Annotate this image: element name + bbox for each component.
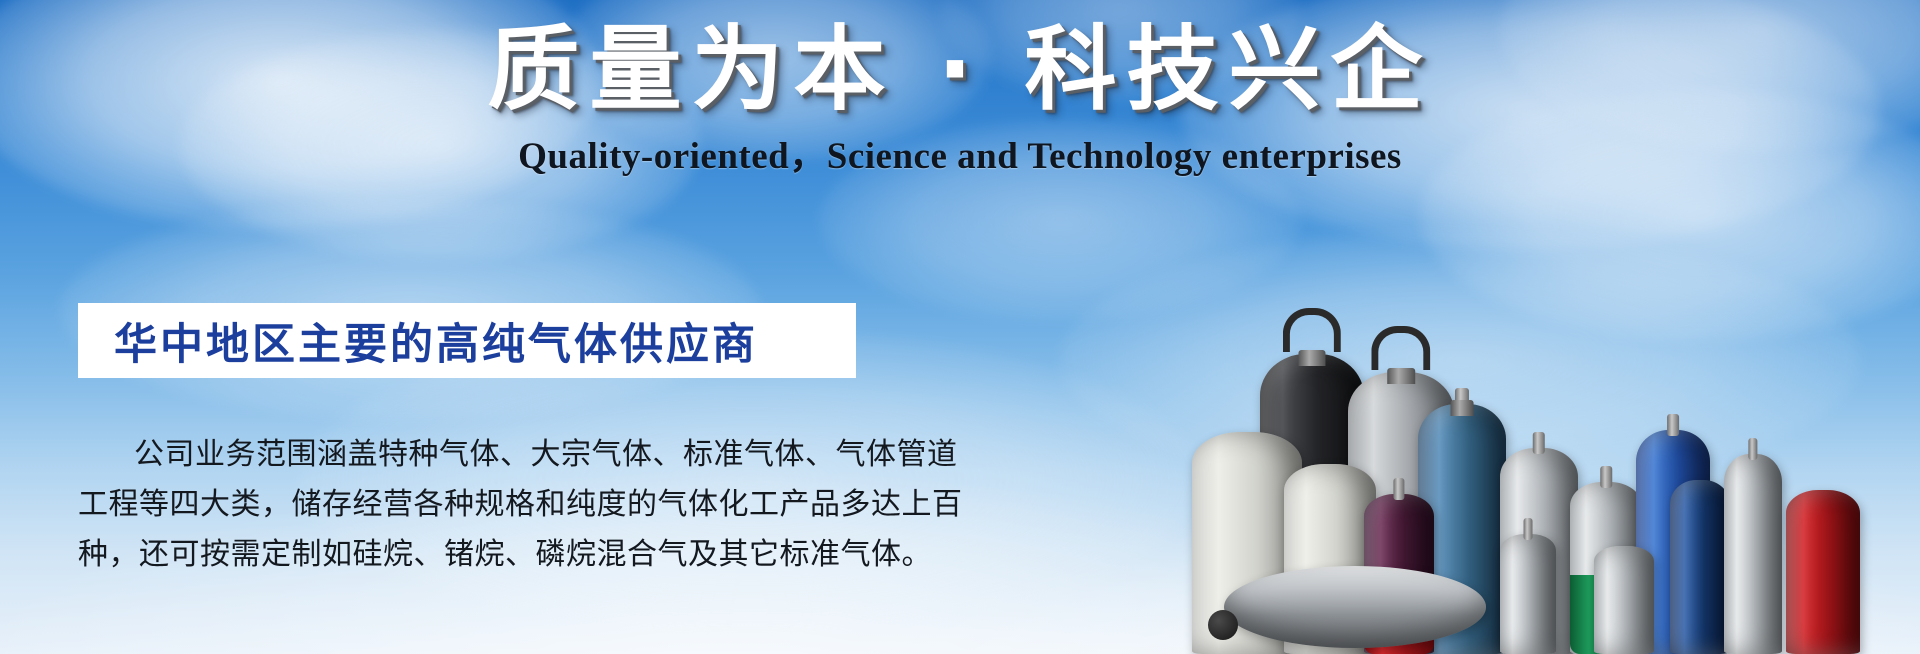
gas-cylinder-red (1786, 490, 1860, 654)
gas-cylinders-product-photo (1200, 234, 1920, 654)
gas-cylinder-silver-slim (1724, 454, 1782, 654)
gas-cylinder-small-front-2 (1594, 546, 1654, 654)
cylinder-neck (1451, 400, 1474, 416)
subtitle-english: Quality-oriented，Science and Technology … (0, 125, 1920, 179)
cylinder-handle (1371, 326, 1430, 370)
cylinder-valve (1748, 438, 1757, 460)
gas-tank-horizontal (1224, 566, 1486, 648)
gas-cylinder-navy (1670, 480, 1730, 654)
cylinder-neck (1298, 350, 1325, 366)
paragraph-line: 工程等四大类，储存经营各种规格和纯度的气体化工产品多达上百 (78, 480, 878, 530)
cylinder-valve (1393, 478, 1404, 500)
cylinder-valve (1533, 432, 1545, 454)
tagline-text: 华中地区主要的高纯气体供应商 (78, 310, 758, 372)
tagline-highlight-box: 华中地区主要的高纯气体供应商 (78, 303, 856, 378)
cylinder-valve (1524, 518, 1533, 540)
paragraph-line: 种，还可按需定制如硅烷、锗烷、磷烷混合气及其它标准气体。 (78, 530, 878, 580)
gas-cylinder-small-front (1500, 534, 1556, 654)
headline-chinese: 质量为本 · 科技兴企 (487, 22, 1432, 119)
paragraph-line: 公司业务范围涵盖特种气体、大宗气体、标准气体、气体管道 (78, 430, 878, 480)
cylinder-valve (1600, 466, 1612, 488)
tank-valve-knob (1208, 610, 1238, 640)
cylinder-neck (1387, 368, 1415, 384)
headline-block: 质量为本 · 科技兴企 Quality-oriented，Science and… (0, 22, 1920, 179)
cylinder-valve (1667, 414, 1679, 436)
description-paragraph: 公司业务范围涵盖特种气体、大宗气体、标准气体、气体管道 工程等四大类，储存经营各… (78, 430, 878, 580)
cylinder-handle (1283, 308, 1341, 352)
promo-banner: 质量为本 · 科技兴企 Quality-oriented，Science and… (0, 0, 1920, 654)
